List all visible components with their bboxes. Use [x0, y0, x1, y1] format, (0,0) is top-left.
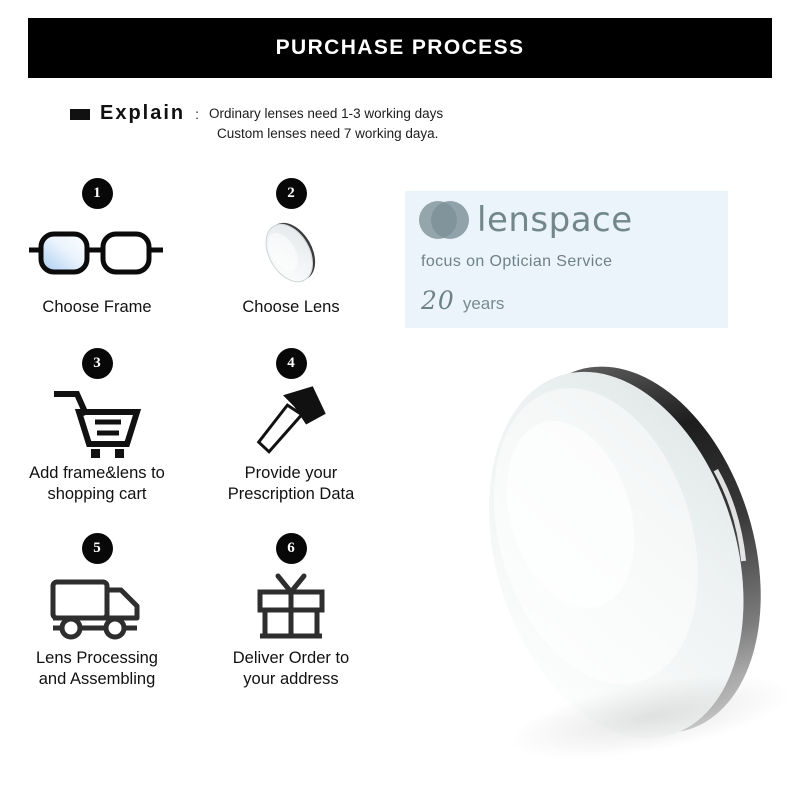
brand-card: lenspace focus on Optician Service 20 ye… — [405, 191, 728, 328]
step-number-badge: 5 — [82, 533, 113, 564]
step-3[interactable]: 3 Add frame&lens to shopping cart — [0, 348, 194, 505]
step-number-badge: 3 — [82, 348, 113, 379]
purchase-process-infographic: PURCHASE PROCESS Explain : Ordinary lens… — [0, 0, 800, 800]
brand-tagline: focus on Optician Service — [421, 253, 612, 271]
brand-logo-row: lenspace — [419, 200, 633, 240]
lens-disc-icon — [251, 215, 331, 289]
header-bar: PURCHASE PROCESS — [28, 18, 772, 78]
step-label: Lens Processing and Assembling — [36, 648, 158, 690]
explain-line-2: Custom lenses need 7 working daya. — [209, 124, 443, 144]
two-overlapping-circles-logo — [419, 201, 466, 239]
step-label-line-1: Deliver Order to — [233, 648, 349, 669]
explain-block: Explain : Ordinary lenses need 1-3 worki… — [70, 100, 443, 144]
step-number-badge: 1 — [82, 178, 113, 209]
step-2[interactable]: 2 — [194, 178, 388, 318]
years-number: 20 — [421, 286, 455, 315]
square-bullet-icon — [70, 109, 90, 120]
explain-separator: : — [195, 100, 199, 128]
step-5[interactable]: 5 Lens Processing and Assembling — [0, 533, 194, 690]
explain-lines: Ordinary lenses need 1-3 working days Cu… — [209, 100, 443, 144]
steps-row-3: 5 Lens Processing and Assembling — [0, 533, 400, 690]
step-label: Choose Frame — [42, 297, 151, 318]
step-label-line-1: Lens Processing — [36, 648, 158, 669]
page-title: PURCHASE PROCESS — [276, 36, 525, 60]
steps-row-2: 3 Add frame&lens to shopping cart — [0, 348, 400, 505]
step-label-line-2: shopping cart — [29, 484, 165, 505]
step-label-line-2: your address — [233, 669, 349, 690]
large-optical-lens-photo — [445, 352, 795, 772]
brand-name: lenspace — [477, 200, 633, 240]
step-4[interactable]: 4 Provide your Prescription Data — [194, 348, 388, 505]
explain-line-1: Ordinary lenses need 1-3 working days — [209, 104, 443, 124]
brand-years: 20 years — [421, 286, 504, 315]
step-label: Provide your Prescription Data — [228, 463, 355, 505]
step-label-line-1: Provide your — [228, 463, 355, 484]
explain-label: Explain — [100, 100, 185, 126]
eyeglasses-icon — [27, 215, 167, 289]
gift-box-icon — [248, 570, 334, 644]
hammer-icon — [248, 385, 334, 459]
years-word: years — [463, 294, 505, 314]
step-number-badge: 4 — [276, 348, 307, 379]
step-number-badge: 2 — [276, 178, 307, 209]
step-label-line-2: and Assembling — [36, 669, 158, 690]
delivery-truck-icon — [47, 570, 147, 644]
steps-row-1: 1 — [0, 178, 400, 318]
steps-grid: 1 — [0, 178, 400, 690]
step-label: Deliver Order to your address — [233, 648, 349, 690]
step-1[interactable]: 1 — [0, 178, 194, 318]
step-number-badge: 6 — [276, 533, 307, 564]
step-label-line-1: Add frame&lens to — [29, 463, 165, 484]
shopping-cart-icon — [51, 385, 143, 459]
step-label-line-2: Prescription Data — [228, 484, 355, 505]
step-label: Choose Lens — [242, 297, 339, 318]
step-6[interactable]: 6 Deliver Order to your address — [194, 533, 388, 690]
step-label: Add frame&lens to shopping cart — [29, 463, 165, 505]
